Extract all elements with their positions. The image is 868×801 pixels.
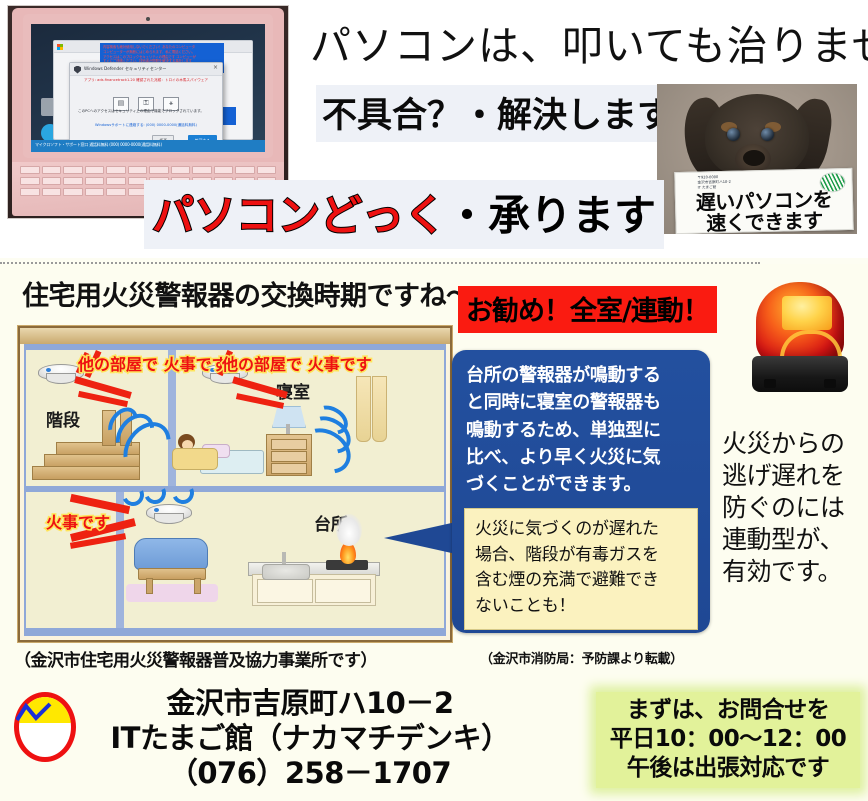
address-line-1: 金沢市吉原町ハ10－2 [80, 686, 540, 721]
address-line-2: ITたまご館（ナカマチデンキ） [80, 721, 540, 756]
faucet-icon [282, 552, 286, 564]
business-hours-box: まずは、お問合せを 平日10：00〜12：00 午後は出張対応です [596, 692, 860, 788]
recommendation-banner: お勧め！全室/連動！ [458, 286, 717, 333]
hours-line-2: 平日10：00〜12：00 [602, 725, 854, 754]
beacon-dome [756, 282, 844, 364]
beacon-base [752, 356, 848, 392]
warning-beacon-icon [748, 282, 852, 404]
dog-with-sign-photo: 〒920-0000 金沢市吉原町ハ10-2 IT たまご館 遅いパソコンを 速く… [657, 84, 857, 234]
dog-sign: 〒920-0000 金沢市吉原町ハ10-2 IT たまご館 遅いパソコンを 速く… [674, 168, 853, 234]
callout-warning-text: 火災に気づくのが遅れた 場合、階段が有毒ガスを 含む煙の充満で避難でき ないこと… [475, 517, 689, 619]
dialog-phone-link[interactable]: Windowsサポートに連絡する: (000) 0000-0000(通話料無料) [78, 123, 214, 128]
upper-floor: 階段 寝室 [26, 350, 444, 486]
taskbar: マイクロソフト・サポート窓口 通話料無料 (000) 0000-0000(通話料… [31, 140, 265, 152]
callout-tail [384, 522, 456, 554]
contact-section: 金沢市吉原町ハ10－2 ITたまご館（ナカマチデンキ） （076）258－170… [0, 684, 868, 801]
microsoft-logo-icon [57, 44, 63, 50]
stair-step [32, 466, 140, 480]
taskbar-scam-text: マイクロソフト・サポート窓口 通話料無料 (000) 0000-0000(通話料… [35, 142, 162, 148]
beacon-foot-left [764, 379, 776, 388]
dog-nose [743, 150, 765, 166]
laptop-screen: 内容検索も絶対使用しないでください！あなたのコンピュータ コンピューターが無断に… [31, 24, 265, 152]
pasokon-dock-red-text: パソコンどっく [152, 191, 446, 240]
fire-alert-text-bedroom: 他の部屋で 火事です [222, 356, 372, 374]
bedside-lamp-stem [286, 424, 290, 434]
dog-eye-right [761, 128, 774, 141]
flyer-root: 内容検索も絶対使用しないでください！あなたのコンピュータ コンピューターが無断に… [0, 0, 868, 801]
hours-line-1: まずは、お問合せを [602, 696, 854, 725]
caption-business-registration: （金沢市住宅用火災警報器普及協力事業所です） [14, 646, 377, 671]
lower-floor: 台所 火事です [26, 492, 444, 628]
shield-icon [74, 66, 81, 74]
hours-line-3: 午後は出張対応です [602, 754, 854, 783]
laptop-bezel: 内容検索も絶対使用しないでください！あなたのコンピュータ コンピューターが無断に… [23, 14, 273, 158]
house-cutaway-diagram: 階段 寝室 [18, 326, 452, 642]
smoke-icon [336, 514, 362, 546]
fire-alarm-section: 住宅用火災警報器の交換時期ですね〜。 お勧め！全室/連動！ [0, 264, 868, 684]
beacon-reflector [780, 330, 842, 358]
interlink-explanation-callout: 台所の警報器が鳴動する と同時に寝室の警報器も 鳴動するため、単独型に 比べ、よ… [452, 350, 710, 633]
dialog-title: Windows Defender セキュリティセンター [84, 66, 166, 72]
main-headline: パソコンは、叩いても治りません! [310, 12, 868, 72]
top-section: 内容検索も絶対使用しないでください！あなたのコンピュータ コンピューターが無断に… [0, 0, 868, 258]
windows-desktop: 内容検索も絶対使用しないでください！あなたのコンピュータ コンピューターが無断に… [31, 24, 265, 152]
callout-warning-box: 火災に気づくのが遅れた 場合、階段が有毒ガスを 含む煙の充満で避難でき ないこと… [464, 508, 698, 630]
pasokon-dock-banner: パソコンどっく・承ります [144, 180, 664, 249]
fire-alarm-headline: 住宅用火災警報器の交換時期ですね〜。 [22, 274, 499, 313]
address-block: 金沢市吉原町ハ10－2 ITたまご館（ナカマチデンキ） （076）258－170… [80, 686, 540, 790]
pasokon-dock-black-text: ・承ります [446, 191, 656, 240]
rug [126, 584, 218, 602]
callout-main-text: 台所の警報器が鳴動する と同時に寝室の警報器も 鳴動するため、単独型に 比べ、よ… [466, 362, 700, 499]
window-curtain [356, 376, 386, 440]
fake-security-dialog: Windows Defender セキュリティセンター × アプリ: ads.f… [69, 62, 223, 152]
close-icon[interactable]: × [213, 65, 218, 71]
phone-number[interactable]: （076）258－1707 [80, 756, 540, 791]
fire-alert-text-living: 火事です [46, 514, 110, 532]
webcam-icon [146, 17, 150, 21]
fire-alert-text-stairs: 他の部屋で 火事です [78, 356, 228, 374]
table-leg [194, 578, 201, 594]
caption-source-credit: （金沢市消防局：予防課より転載） [480, 648, 683, 667]
beacon-bulb [782, 296, 832, 330]
sub-headline: 不具合？・解決します！ [316, 85, 713, 142]
table-leg [146, 578, 153, 594]
escape-advice-text: 火災からの 逃げ遅れを 防ぐのには 連動型が、 有効です。 [722, 428, 845, 588]
sofa [134, 538, 208, 570]
house-roof [20, 328, 450, 344]
beacon-foot-right [824, 379, 836, 388]
label-stairs: 階段 [46, 406, 80, 431]
smoke-alarm-living [146, 504, 190, 524]
dialog-warning-text: アプリ: ads.financetrack1.20 確認された兆候：トロイの木馬… [70, 78, 222, 83]
logo-zigzag-icon [16, 702, 54, 724]
dog-eye-left [727, 128, 740, 141]
dialog-titlebar: Windows Defender セキュリティセンター × [70, 63, 222, 76]
kitchen-sink [262, 564, 310, 580]
dialog-body-text: このPCへのアクセスはセキュリティ上の理由で機能でブロックされています。 [78, 109, 214, 114]
person-body [172, 448, 218, 470]
company-logo-icon [14, 692, 70, 754]
dog-sign-line2: 速くできます [676, 204, 853, 234]
